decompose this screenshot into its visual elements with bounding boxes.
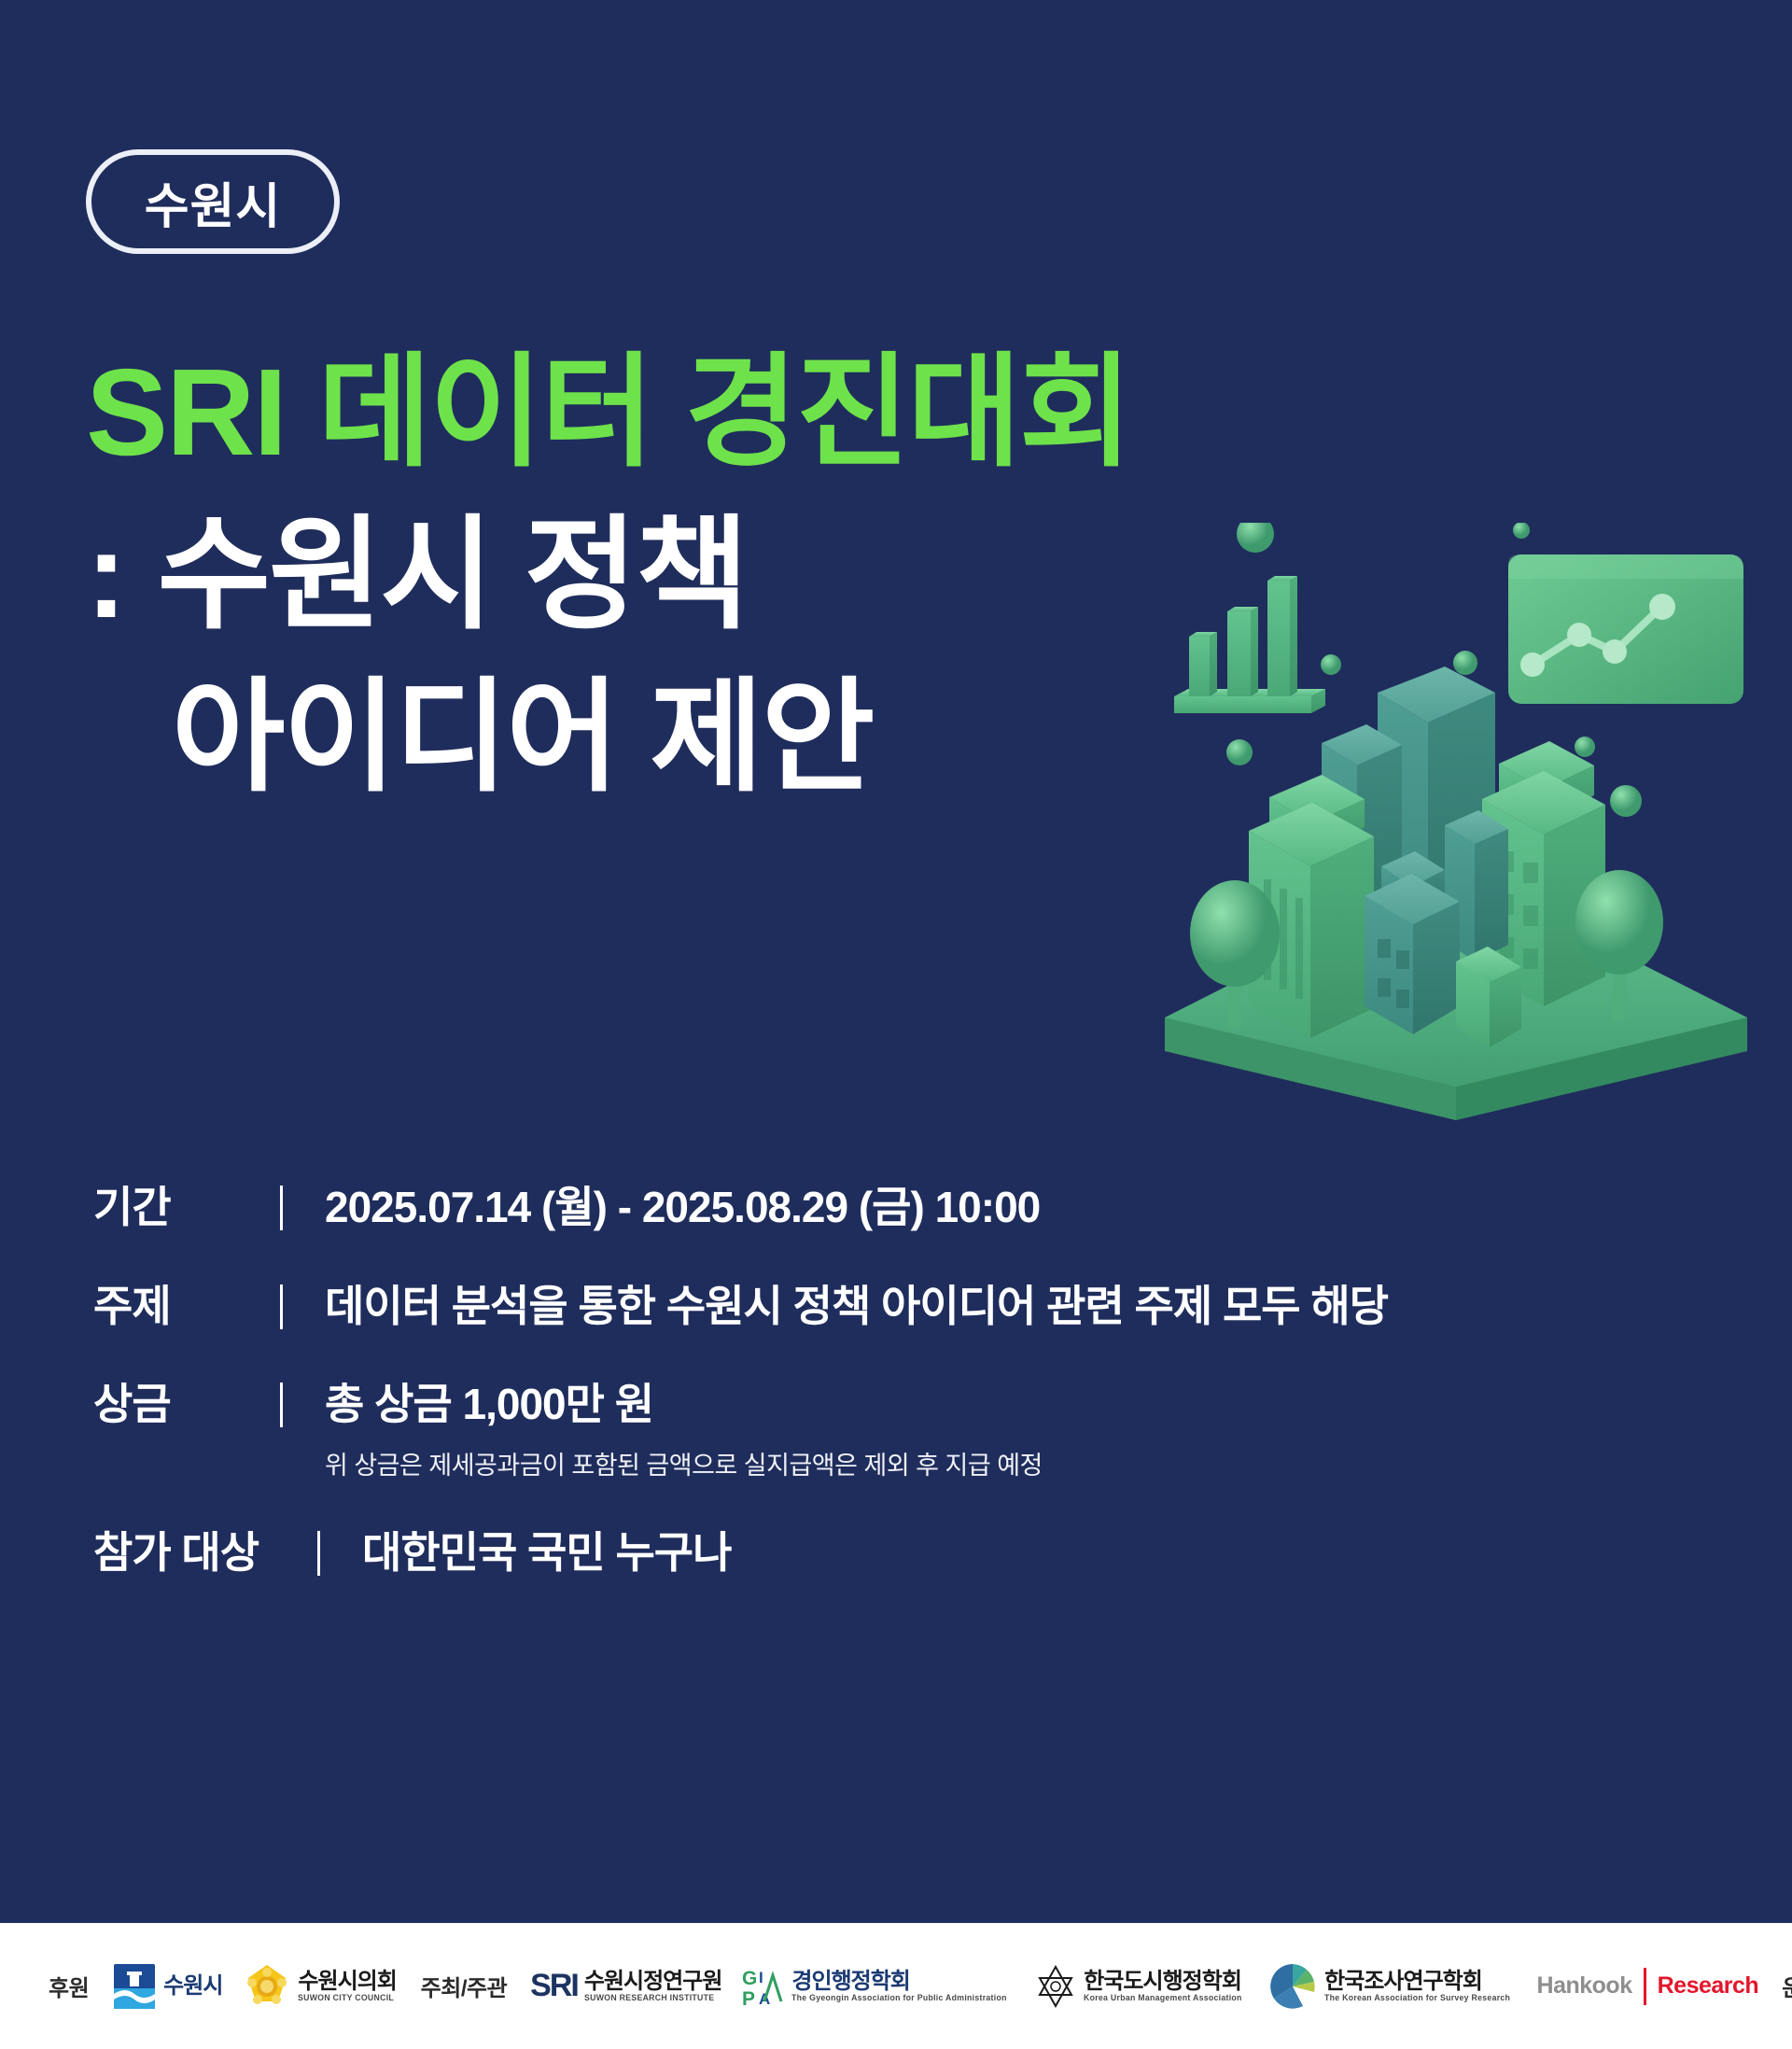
suwon-council-names: 수원시의회 SUWON CITY COUNCIL [298,1970,397,2003]
info-label-topic: 주제 [93,1280,280,1334]
sri-abbr: SRI [530,1968,578,2004]
kuma-names: 한국도시행정학회 Korea Urban Management Associat… [1084,1970,1247,2003]
svg-text:G: G [742,1968,757,1989]
info-label-prize: 상금 [93,1378,280,1432]
city-badge-label: 수원시 [145,167,282,237]
kuma-mark-icon [1034,1963,1077,2010]
suwon-council-mark-icon [243,1962,291,2011]
gipa-name-en: The Gyeongin Association for Public Admi… [791,1993,1007,2003]
suwon-city-mark-icon [112,1962,157,2011]
hankook-part2: Research [1658,1972,1759,2000]
sri-name-en: SUWON RESEARCH INSTITUTE [584,1993,718,2003]
info-note-prize: 위 상금은 제세공과금이 포함된 금액으로 실지급액은 제외 후 지급 예정 [325,1451,1043,1482]
suwon-city-names: 수원시 [163,1974,222,1998]
logo-suwon-council: 수원시의회 SUWON CITY COUNCIL [243,1962,397,2011]
bar-chart-icon [1174,576,1325,713]
info-value-period: 2025.07.14 (월) - 2025.08.29 (금) 10:00 [325,1181,1040,1235]
title-line-2: : 수원시 정책 [86,494,1299,656]
kasr-mark-icon [1267,1961,1318,2012]
info-list: 기간 2025.07.14 (월) - 2025.08.29 (금) 10:00… [93,1181,1736,1625]
logo-sri: SRI 수원시정연구원 SUWON RESEARCH INSTITUTE [530,1968,721,2004]
poster-root: 수원시 SRI 데이터 경진대회 : 수원시 정책 아이디어 제안 [0,0,1792,2049]
sri-name-ko: 수원시정연구원 [584,1970,722,1993]
suwon-council-name-en: SUWON CITY COUNCIL [298,1993,394,2003]
gipa-names: 경인행정학회 The Gyeongin Association for Publ… [791,1970,1014,2003]
row-divider [317,1531,320,1576]
hankook-divider-icon [1644,1968,1646,2005]
logo-suwon-city: 수원시 [112,1962,222,2011]
kasr-names: 한국조사연구학회 The Korean Association for Surv… [1324,1970,1516,2003]
info-label-period: 기간 [93,1181,280,1235]
title-line-1: SRI 데이터 경진대회 [86,331,1299,494]
info-value-eligibility: 대한민국 국민 누구나 [362,1526,731,1580]
sri-names: 수원시정연구원 SUWON RESEARCH INSTITUTE [584,1970,722,2003]
footer-label-operator: 운영 [1782,1970,1792,2002]
smart-city-illustration [1148,523,1764,1120]
kuma-name-ko: 한국도시행정학회 [1084,1970,1247,1993]
kasr-name-ko: 한국조사연구학회 [1324,1970,1516,1993]
info-row-eligibility: 참가 대상 대한민국 국민 누구나 [93,1526,1736,1580]
logo-gipa: G P I A 경인행정학회 The Gyeongin Association … [742,1964,1014,2009]
footer-logos-bar: 후원 수원시 [0,1923,1792,2049]
svg-text:P: P [742,1988,755,2009]
city-buildings-group [1249,667,1605,1047]
logo-kuma: 한국도시행정학회 Korea Urban Management Associat… [1034,1963,1247,2010]
info-row-period: 기간 2025.07.14 (월) - 2025.08.29 (금) 10:00 [93,1181,1736,1235]
svg-text:I: I [759,1969,763,1986]
page-title: SRI 데이터 경진대회 : 수원시 정책 아이디어 제안 [86,331,1299,820]
info-row-prize: 상금 총 상금 1,000만 원 위 상금은 제세공과금이 포함된 금액으로 실… [93,1378,1736,1481]
row-divider [280,1382,283,1427]
info-value-prize: 총 상금 1,000만 원 [325,1380,653,1428]
kasr-name-en: The Korean Association for Survey Resear… [1324,1993,1510,2003]
row-divider [280,1186,283,1230]
logo-hankook-research: Hankook Research [1537,1968,1759,2005]
title-line-3: 아이디어 제안 [86,656,1299,819]
footer-label-host: 주최/주관 [421,1970,508,2002]
suwon-city-name-ko: 수원시 [163,1974,222,1998]
hankook-part1: Hankook [1537,1972,1632,2000]
line-chart-panel-icon [1508,554,1743,704]
info-label-eligibility: 참가 대상 [93,1526,317,1580]
info-row-topic: 주제 데이터 분석을 통한 수원시 정책 아이디어 관련 주제 모두 해당 [93,1280,1736,1334]
kuma-name-en: Korea Urban Management Association [1084,1993,1242,2003]
gipa-mark-icon: G P I A [742,1964,785,2009]
gipa-name-ko: 경인행정학회 [791,1970,1014,1993]
row-divider [280,1284,283,1329]
footer-label-sponsor: 후원 [49,1970,89,2002]
city-badge: 수원시 [86,149,340,254]
info-value-topic: 데이터 분석을 통한 수원시 정책 아이디어 관련 주제 모두 해당 [325,1280,1388,1334]
info-value-prize-wrap: 총 상금 1,000만 원 위 상금은 제세공과금이 포함된 금액으로 실지급액… [325,1378,1043,1481]
suwon-council-name-ko: 수원시의회 [298,1970,397,1993]
logo-kasr: 한국조사연구학회 The Korean Association for Surv… [1267,1961,1516,2012]
